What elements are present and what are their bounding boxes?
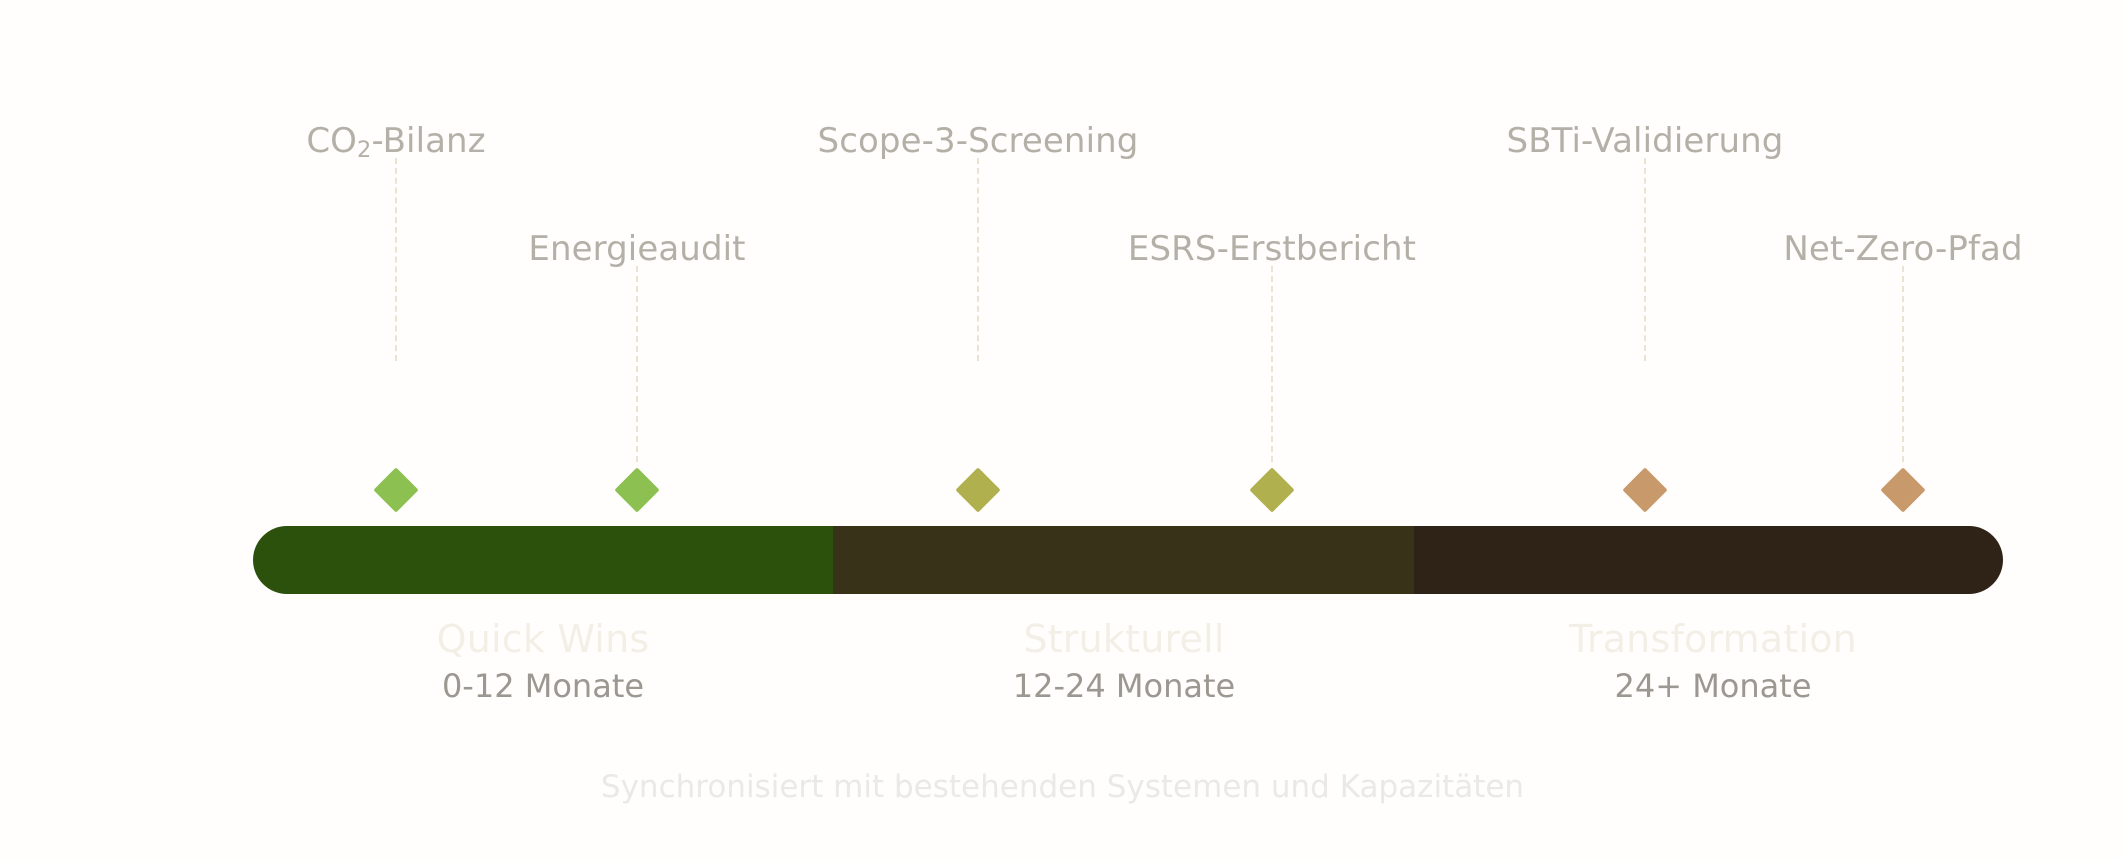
timeline-segment-quick-wins[interactable] <box>253 526 833 594</box>
timeline-segment-strukturell[interactable] <box>833 526 1414 594</box>
roadmap-timeline-diagram: CO2-Bilanz Energieaudit Scope-3-Screenin… <box>0 0 2125 859</box>
connector-line-energieaudit <box>636 266 638 462</box>
subscript-2: 2 <box>357 137 371 163</box>
milestone-label-sbti-validierung: SBTi-Validierung <box>1507 124 1784 158</box>
connector-line-esrs-erstbericht <box>1271 266 1273 462</box>
phase-title-strukturell: Strukturell <box>1013 620 1235 658</box>
milestone-label-text: CO <box>306 121 357 161</box>
milestone-marker-sbti-validierung[interactable] <box>1622 467 1667 512</box>
milestone-label-net-zero-pfad: Net-Zero-Pfad <box>1783 232 2022 266</box>
phase-title-transformation: Transformation <box>1569 620 1857 658</box>
phase-duration-transformation: 24+ Monate <box>1569 670 1857 702</box>
phase-duration-strukturell: 12-24 Monate <box>1013 670 1235 702</box>
milestone-label-co2-bilanz: CO2-Bilanz <box>306 124 485 158</box>
timeline-segment-transformation[interactable] <box>1414 526 2003 594</box>
phase-caption-quick-wins: Quick Wins 0-12 Monate <box>437 620 650 702</box>
milestone-marker-net-zero-pfad[interactable] <box>1880 467 1925 512</box>
milestone-marker-energieaudit[interactable] <box>614 467 659 512</box>
connector-line-sbti-validierung <box>1644 158 1646 361</box>
connector-line-scope-3-screening <box>977 158 979 361</box>
timeline-bar <box>253 526 2003 594</box>
connector-line-net-zero-pfad <box>1902 266 1904 462</box>
phase-caption-transformation: Transformation 24+ Monate <box>1569 620 1857 702</box>
footnote-text: Synchronisiert mit bestehenden Systemen … <box>601 772 1524 803</box>
connector-line-co2-bilanz <box>395 158 397 361</box>
milestone-label-esrs-erstbericht: ESRS-Erstbericht <box>1128 232 1416 266</box>
phase-caption-strukturell: Strukturell 12-24 Monate <box>1013 620 1235 702</box>
milestone-label-energieaudit: Energieaudit <box>528 232 745 266</box>
milestone-label-suffix: -Bilanz <box>371 121 485 161</box>
phase-duration-quick-wins: 0-12 Monate <box>437 670 650 702</box>
milestone-marker-scope-3-screening[interactable] <box>955 467 1000 512</box>
milestone-marker-esrs-erstbericht[interactable] <box>1249 467 1294 512</box>
phase-title-quick-wins: Quick Wins <box>437 620 650 658</box>
milestone-marker-co2-bilanz[interactable] <box>373 467 418 512</box>
milestone-label-scope-3-screening: Scope-3-Screening <box>818 124 1139 158</box>
